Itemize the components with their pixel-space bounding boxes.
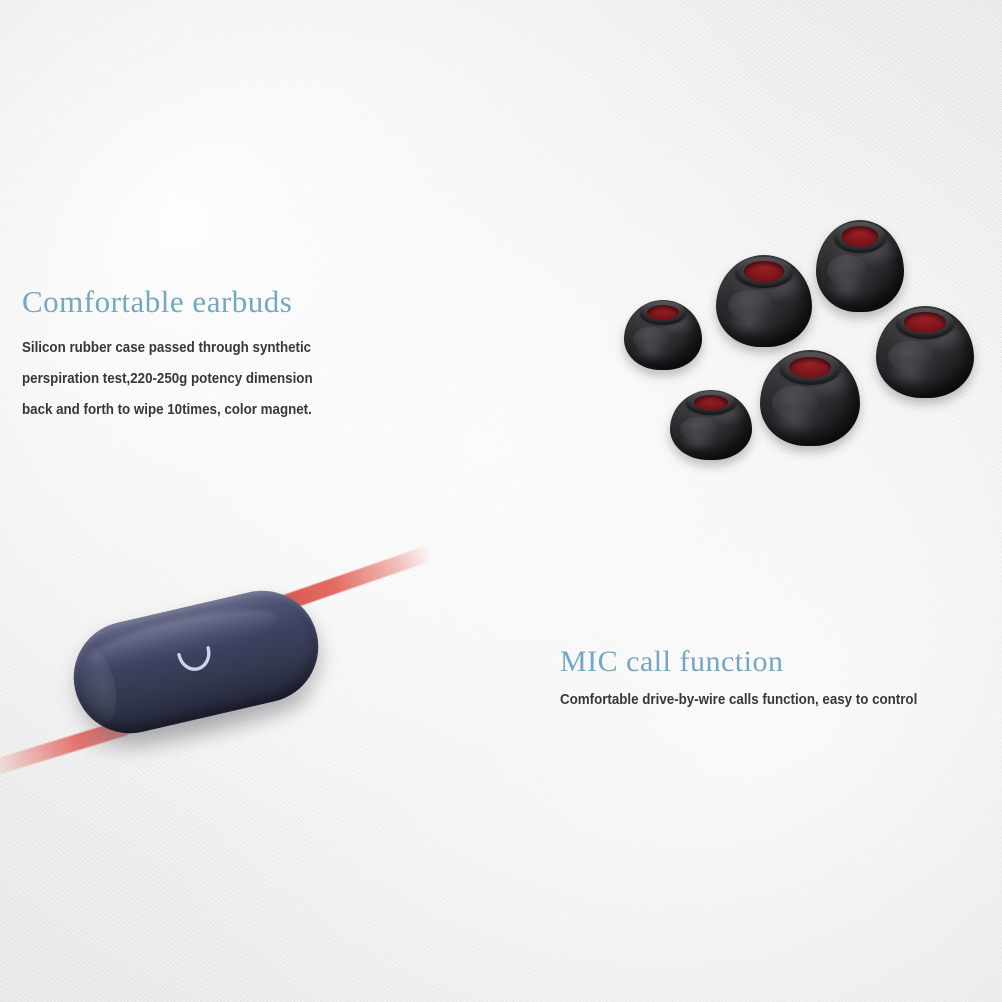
paper-background-texture	[0, 0, 1002, 1002]
earbuds-description-line: Silicon rubber case passed through synth…	[22, 333, 313, 364]
eartip-small-bottom	[670, 390, 752, 460]
earbuds-description-line: back and forth to wipe 10times, color ma…	[22, 395, 313, 426]
earbuds-headline: Comfortable earbuds	[22, 283, 338, 321]
eartip-large-top	[816, 220, 904, 312]
eartip-medium-center	[760, 350, 860, 446]
eartip-bore	[744, 261, 784, 281]
earbuds-text-block: Comfortable earbuds Silicon rubber case …	[22, 283, 338, 426]
eartip-bore	[789, 357, 831, 378]
mic-description-line: Comfortable drive-by-wire calls function…	[560, 688, 917, 712]
product-feature-image: Comfortable earbuds Silicon rubber case …	[0, 0, 1002, 1002]
earbuds-description: Silicon rubber case passed through synth…	[22, 333, 338, 426]
eartip-bore	[904, 312, 945, 332]
mic-description: Comfortable drive-by-wire calls function…	[560, 688, 948, 712]
eartip-medium-upper	[716, 255, 812, 347]
earbuds-description-line: perspiration test,220-250g potency dimen…	[22, 364, 313, 395]
mic-text-block: MIC call function Comfortable drive-by-w…	[560, 644, 948, 712]
phone-handset-icon	[173, 644, 217, 676]
eartip-small-left	[624, 300, 702, 370]
mic-headline: MIC call function	[560, 644, 948, 680]
eartip-bore	[842, 226, 879, 246]
eartip-large-right	[876, 306, 974, 398]
